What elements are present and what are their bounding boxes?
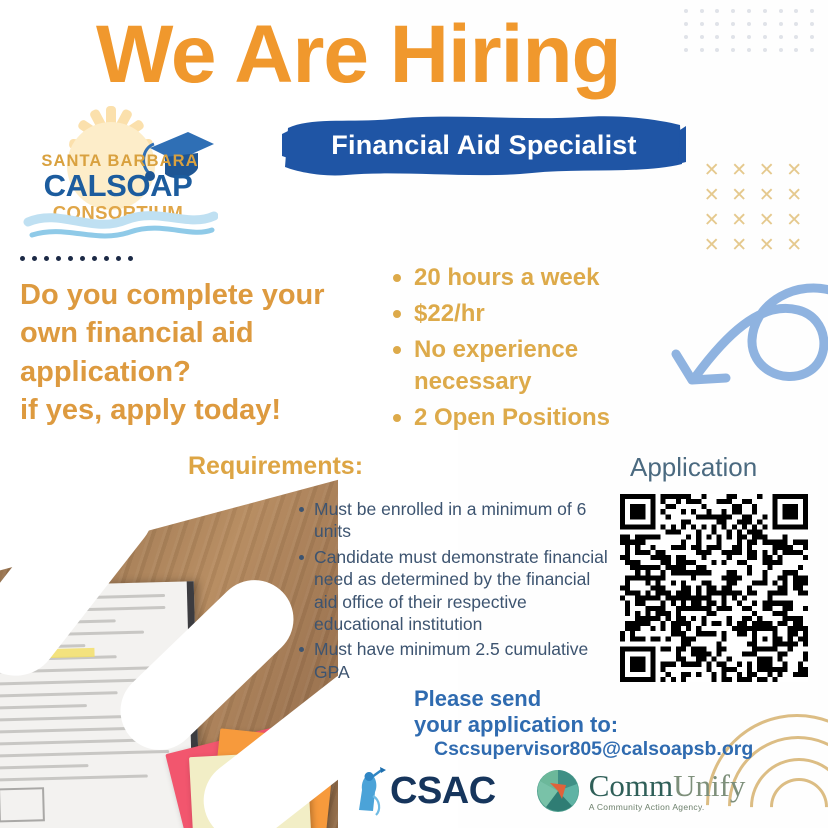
x-mark-icon: ✕: [781, 183, 809, 208]
question-line: Do you complete your: [20, 276, 380, 314]
x-mark-icon: ✕: [726, 208, 754, 233]
partner-logos: CSAC CommUnify A Community Action Agency…: [352, 766, 745, 816]
application-label: Application: [630, 452, 757, 483]
dotted-rule-decoration: [20, 256, 133, 261]
list-item: Must be enrolled in a minimum of 6 units: [298, 498, 608, 543]
x-mark-icon: ✕: [753, 183, 781, 208]
contact-instruction-line-1: Please send: [414, 686, 618, 712]
question-text: Do you complete your own financial aid a…: [20, 276, 380, 429]
communify-wordmark: CommUnify A Community Action Agency.: [589, 770, 746, 812]
page-title: We Are Hiring: [96, 8, 621, 102]
list-item: 2 Open Positions: [390, 402, 660, 433]
x-mark-icon: ✕: [753, 233, 781, 258]
contact-email[interactable]: Cscsupervisor805@calsoapsb.org: [434, 738, 753, 761]
csac-logo: CSAC: [352, 766, 496, 816]
wave-icon: [28, 216, 214, 236]
x-mark-icon: ✕: [753, 208, 781, 233]
list-item: 20 hours a week: [390, 262, 660, 293]
dot-grid-decoration: [678, 4, 820, 56]
job-title-banner: Financial Aid Specialist: [282, 112, 686, 180]
list-item: Candidate must demonstrate financial nee…: [298, 546, 608, 636]
communify-tagline: A Community Action Agency.: [589, 803, 746, 812]
x-grid-decoration: ✕ ✕ ✕ ✕ ✕ ✕ ✕ ✕ ✕ ✕ ✕ ✕ ✕ ✕ ✕ ✕: [698, 158, 808, 258]
requirements-list: Must be enrolled in a minimum of 6 units…: [298, 498, 608, 686]
requirements-title: Requirements:: [188, 452, 363, 481]
x-mark-icon: ✕: [698, 158, 726, 183]
list-item: No experience necessary: [390, 334, 660, 396]
communify-mosaic-icon: [536, 769, 580, 813]
x-mark-icon: ✕: [781, 233, 809, 258]
communify-name: CommUnify: [589, 770, 746, 801]
x-mark-icon: ✕: [698, 183, 726, 208]
perks-list: 20 hours a week $22/hr No experience nec…: [390, 262, 660, 438]
question-line: application?: [20, 353, 380, 391]
contact-instruction: Please send your application to:: [414, 686, 618, 739]
communify-name-part1: Comm: [589, 768, 673, 803]
csac-wordmark: CSAC: [390, 770, 496, 813]
list-item: $22/hr: [390, 298, 660, 329]
x-mark-icon: ✕: [781, 158, 809, 183]
x-mark-icon: ✕: [726, 183, 754, 208]
contact-instruction-line-2: your application to:: [414, 712, 618, 738]
application-qr-code[interactable]: [620, 494, 808, 682]
x-mark-icon: ✕: [781, 208, 809, 233]
x-mark-icon: ✕: [726, 233, 754, 258]
notebook-sketch: [0, 787, 45, 822]
qr-code-canvas[interactable]: [620, 494, 808, 682]
question-line: if yes, apply today!: [20, 391, 380, 429]
question-line: own financial aid: [20, 314, 380, 352]
x-mark-icon: ✕: [698, 208, 726, 233]
communify-name-part2: Unify: [673, 768, 745, 803]
hiring-flyer: ✕ ✕ ✕ ✕ ✕ ✕ ✕ ✕ ✕ ✕ ✕ ✕ ✕ ✕ ✕ ✕ We Are H…: [0, 0, 828, 828]
x-mark-icon: ✕: [753, 158, 781, 183]
job-title-text: Financial Aid Specialist: [282, 112, 686, 180]
calsoap-logo: SANTA BARBARA CALSOAP CONSORTIUM: [22, 104, 218, 244]
x-mark-icon: ✕: [726, 158, 754, 183]
graduate-figure-icon: [352, 766, 386, 816]
communify-logo: CommUnify A Community Action Agency.: [536, 769, 746, 813]
curved-arrow-icon: [648, 272, 828, 457]
logo-line-2: CALSOAP: [44, 168, 193, 203]
x-mark-icon: ✕: [698, 233, 726, 258]
list-item: Must have minimum 2.5 cumulative GPA: [298, 638, 608, 683]
